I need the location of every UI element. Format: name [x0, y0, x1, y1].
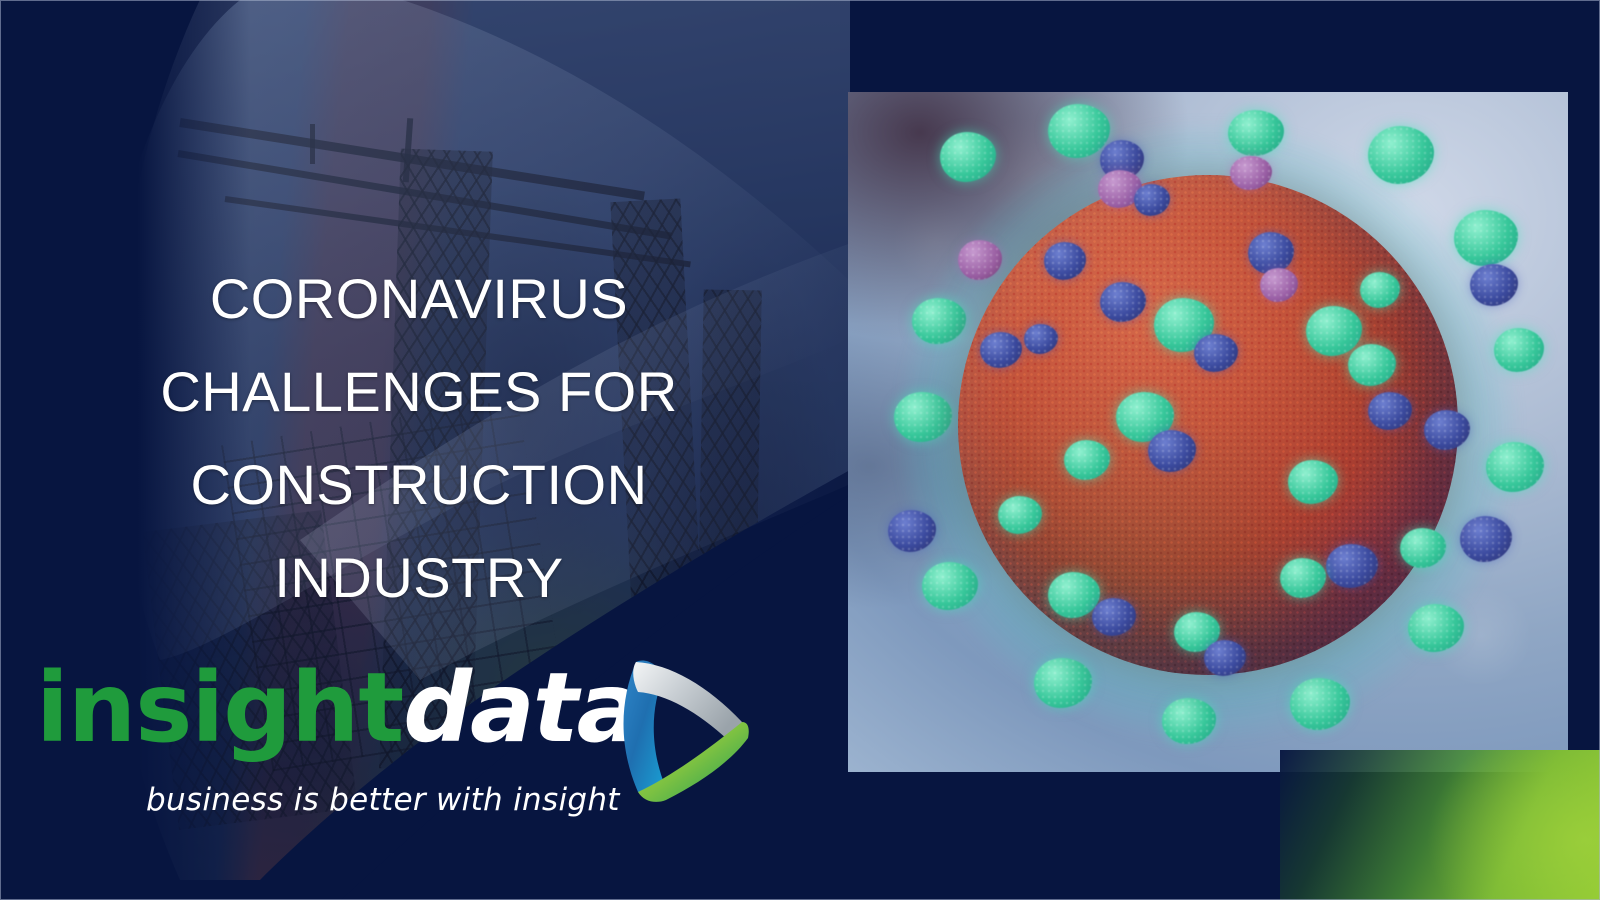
virus-spike	[1368, 126, 1434, 184]
coronavirus-construction-banner: CORONAVIRUS CHALLENGES FOR CONSTRUCTION …	[0, 0, 1600, 900]
virus-spike	[1494, 328, 1544, 372]
trefoil-ribbon-logo-icon	[592, 650, 752, 810]
virus-spike	[940, 132, 996, 182]
coronavirus-image	[848, 92, 1568, 772]
logo-wordmark: insightdata	[36, 660, 639, 757]
virus-spike	[1470, 264, 1518, 306]
insight-data-logo[interactable]: insightdata business is better with insi…	[36, 660, 756, 840]
page-title: CORONAVIRUS CHALLENGES FOR CONSTRUCTION …	[0, 252, 838, 624]
virus-spike	[1460, 516, 1512, 562]
logo-word-insight: insight	[36, 652, 403, 764]
virus-spike	[1454, 210, 1518, 266]
virus-spike	[1486, 442, 1544, 492]
crane-mast	[310, 124, 315, 164]
virus-spike	[1408, 604, 1464, 652]
virus-spike	[1290, 678, 1350, 730]
logo-tagline: business is better with insight	[146, 782, 620, 818]
green-accent-glow	[1280, 750, 1600, 900]
